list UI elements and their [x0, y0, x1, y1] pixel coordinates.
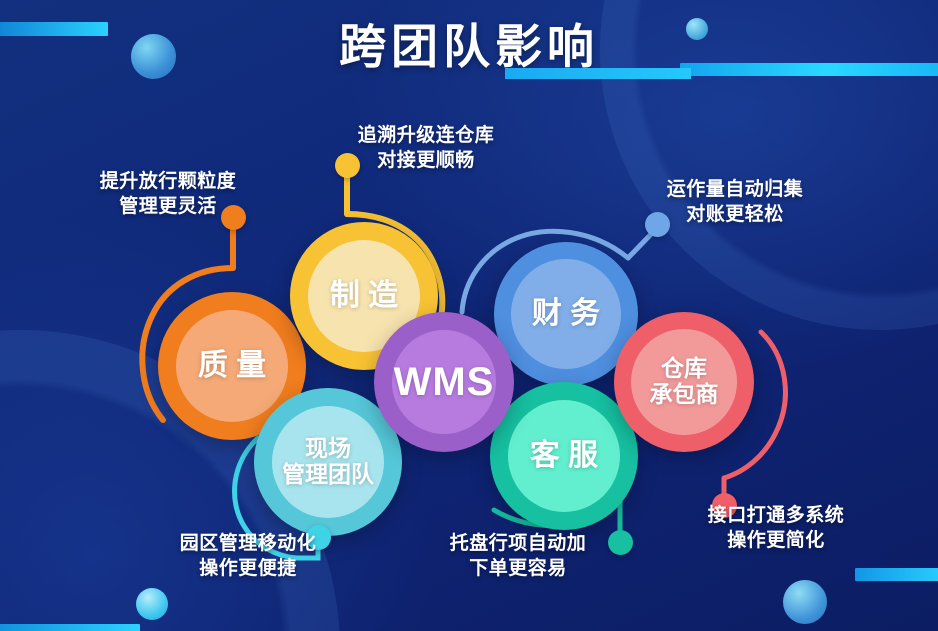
bubble-wms[interactable]: WMS [374, 312, 514, 452]
infographic-canvas: 跨团队影响 质 量 制 造 现场 管理 [0, 0, 938, 631]
callout-service: 托盘行项自动加 下单更容易 [428, 532, 608, 581]
bubble-wms-core: WMS [392, 330, 496, 434]
bubble-finance-core: 财 务 [511, 259, 621, 369]
deco-circle-bottom-right [783, 580, 827, 624]
callout-quality: 提升放行颗粒度 管理更灵活 [78, 170, 258, 219]
deco-circle-bottom-left [136, 588, 168, 620]
bubble-quality-label: 质 量 [198, 349, 266, 383]
deco-bar-bottom-left [0, 624, 140, 631]
callout-warehouse: 接口打通多系统 操作更简化 [686, 504, 866, 553]
bubble-warehouse-contractor[interactable]: 仓库 承包商 [614, 312, 754, 452]
bubble-customer-service-core: 客 服 [508, 400, 620, 512]
callout-dot-service[interactable] [608, 530, 633, 555]
callout-site: 园区管理移动化 操作更便捷 [158, 532, 338, 581]
bubble-customer-service-label: 客 服 [530, 439, 598, 473]
title-underline-accent [505, 68, 691, 79]
bubble-customer-service[interactable]: 客 服 [490, 382, 638, 530]
bubble-wms-label: WMS [394, 360, 495, 405]
callout-finance: 运作量自动归集 对账更轻松 [645, 178, 825, 227]
deco-bar-bottom-right [855, 568, 938, 581]
bubble-warehouse-contractor-core: 仓库 承包商 [631, 329, 737, 435]
bubble-quality-core: 质 量 [176, 310, 288, 422]
callout-manufacture: 追溯升级连仓库 对接更顺畅 [336, 124, 516, 173]
bubble-warehouse-contractor-label: 仓库 承包商 [650, 356, 719, 408]
bubble-finance-label: 财 务 [532, 297, 600, 331]
page-title: 跨团队影响 [0, 8, 938, 77]
bubble-site-team-label: 现场 管理团队 [282, 436, 374, 488]
bubble-site-team-core: 现场 管理团队 [272, 406, 384, 518]
bubble-manufacture-label: 制 造 [330, 279, 398, 313]
